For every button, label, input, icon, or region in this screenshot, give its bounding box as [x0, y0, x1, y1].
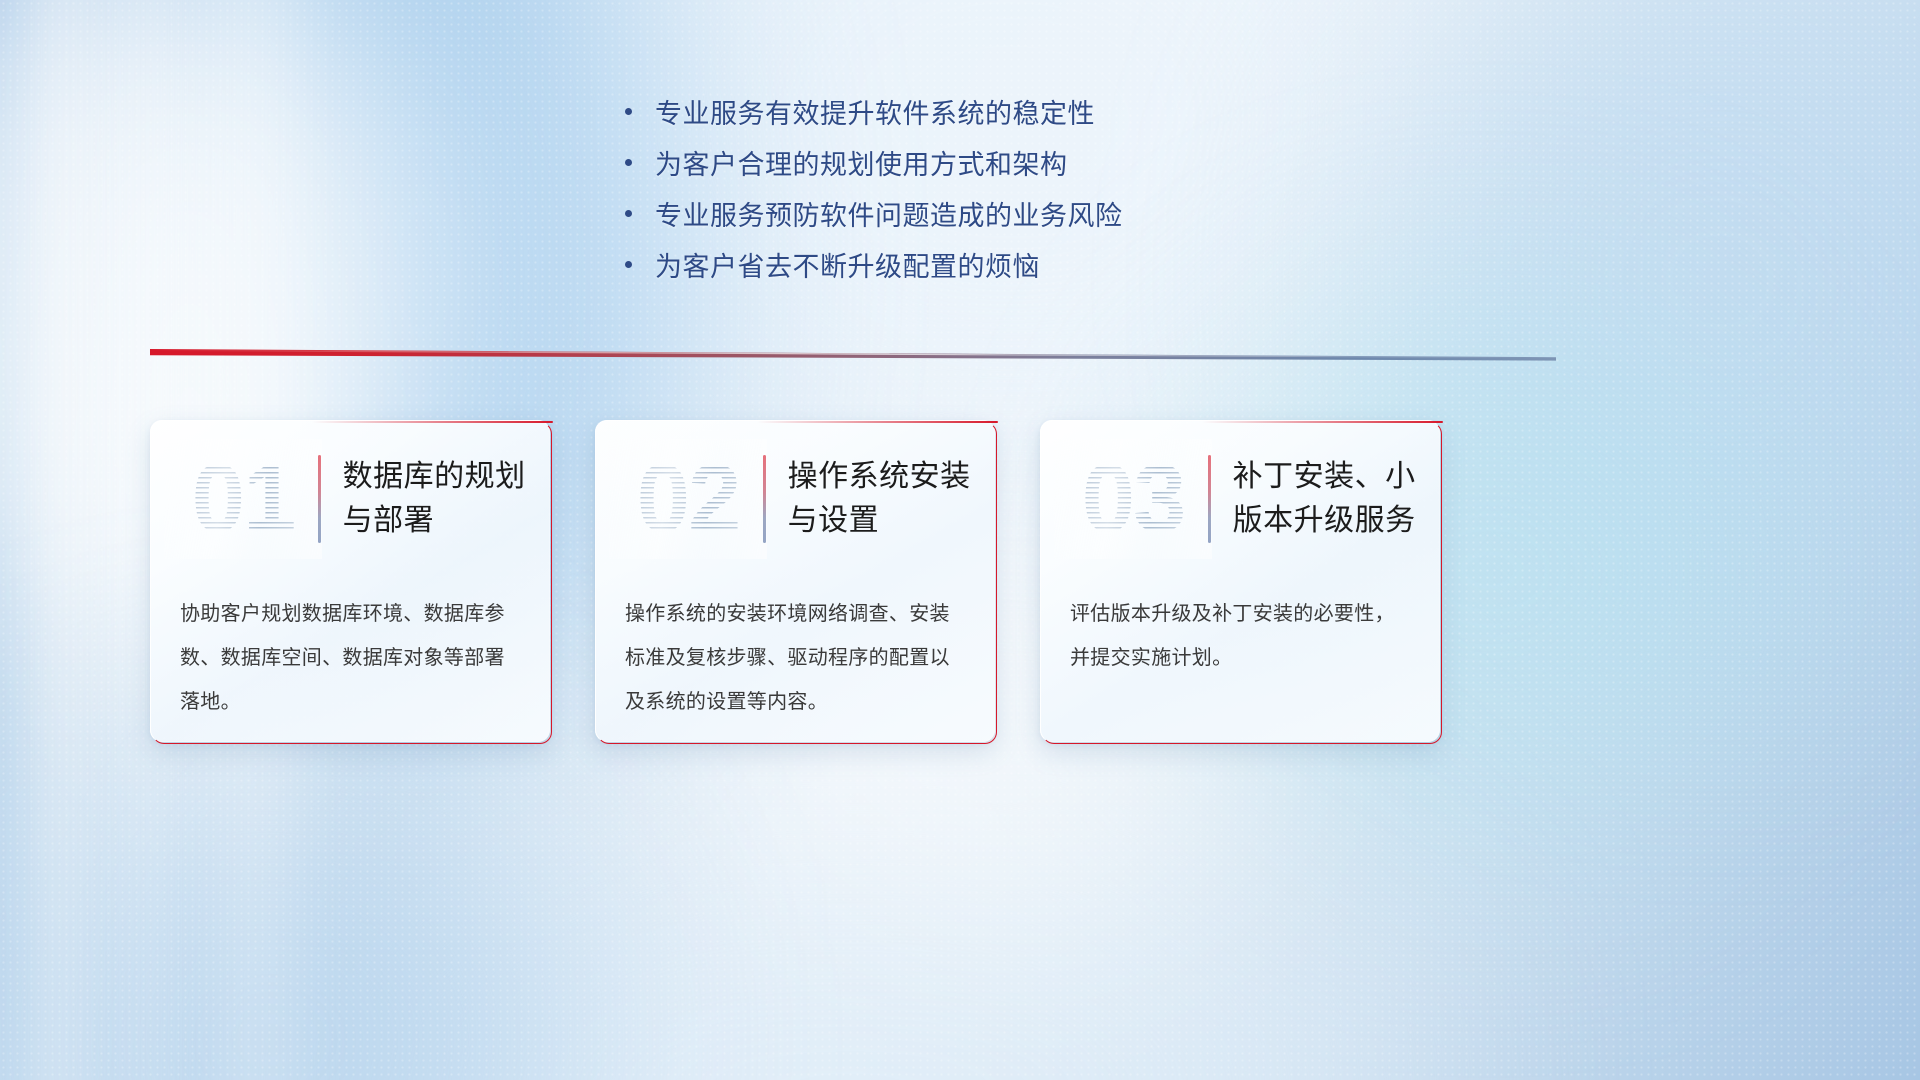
- bullet-dot-icon: [615, 108, 655, 115]
- card-header: 02 操作系统安装与设置: [595, 420, 995, 578]
- card-body-text: 操作系统的安装环境网络调查、安装标准及复核步骤、驱动程序的配置以及系统的设置等内…: [595, 578, 995, 724]
- card-body-text: 协助客户规划数据库环境、数据库参数、数据库空间、数据库对象等部署落地。: [150, 578, 550, 724]
- card-accent-bar: [1208, 455, 1211, 543]
- bullet-dot-icon: [615, 261, 655, 268]
- benefits-bullet-list: 专业服务有效提升软件系统的稳定性 为客户合理的规划使用方式和架构 专业服务预防软…: [0, 86, 1920, 290]
- service-card-02[interactable]: 02 操作系统安装与设置 操作系统的安装环境网络调查、安装标准及复核步骤、驱动程…: [595, 420, 995, 742]
- card-number-watermark: 01: [174, 447, 312, 551]
- section-divider: [150, 349, 1556, 362]
- list-item: 专业服务有效提升软件系统的稳定性: [615, 86, 1305, 137]
- bullet-label: 为客户省去不断升级配置的烦恼: [655, 245, 1305, 284]
- card-title: 补丁安装、小版本升级服务: [1233, 455, 1440, 543]
- bullet-label: 为客户合理的规划使用方式和架构: [655, 143, 1305, 182]
- bullet-dot-icon: [615, 159, 655, 166]
- card-header: 03 补丁安装、小版本升级服务: [1040, 420, 1440, 578]
- bullet-label: 专业服务预防软件问题造成的业务风险: [655, 194, 1305, 233]
- card-number-watermark: 02: [619, 447, 757, 551]
- card-header: 01 数据库的规划与部署: [150, 420, 550, 578]
- card-body-text: 评估版本升级及补丁安装的必要性，并提交实施计划。: [1040, 578, 1440, 680]
- service-card-01[interactable]: 01 数据库的规划与部署 协助客户规划数据库环境、数据库参数、数据库空间、数据库…: [150, 420, 550, 742]
- card-title: 操作系统安装与设置: [788, 455, 995, 543]
- service-card-03[interactable]: 03 补丁安装、小版本升级服务 评估版本升级及补丁安装的必要性，并提交实施计划。: [1040, 420, 1440, 742]
- bullet-dot-icon: [615, 210, 655, 217]
- card-title: 数据库的规划与部署: [343, 455, 550, 543]
- list-item: 专业服务预防软件问题造成的业务风险: [615, 188, 1305, 239]
- card-accent-bar: [318, 455, 321, 543]
- card-accent-bar: [763, 455, 766, 543]
- list-item: 为客户合理的规划使用方式和架构: [615, 137, 1305, 188]
- card-number-watermark: 03: [1064, 447, 1202, 551]
- bullet-label: 专业服务有效提升软件系统的稳定性: [655, 92, 1305, 131]
- list-item: 为客户省去不断升级配置的烦恼: [615, 239, 1305, 290]
- service-card-group: 01 数据库的规划与部署 协助客户规划数据库环境、数据库参数、数据库空间、数据库…: [150, 420, 1770, 750]
